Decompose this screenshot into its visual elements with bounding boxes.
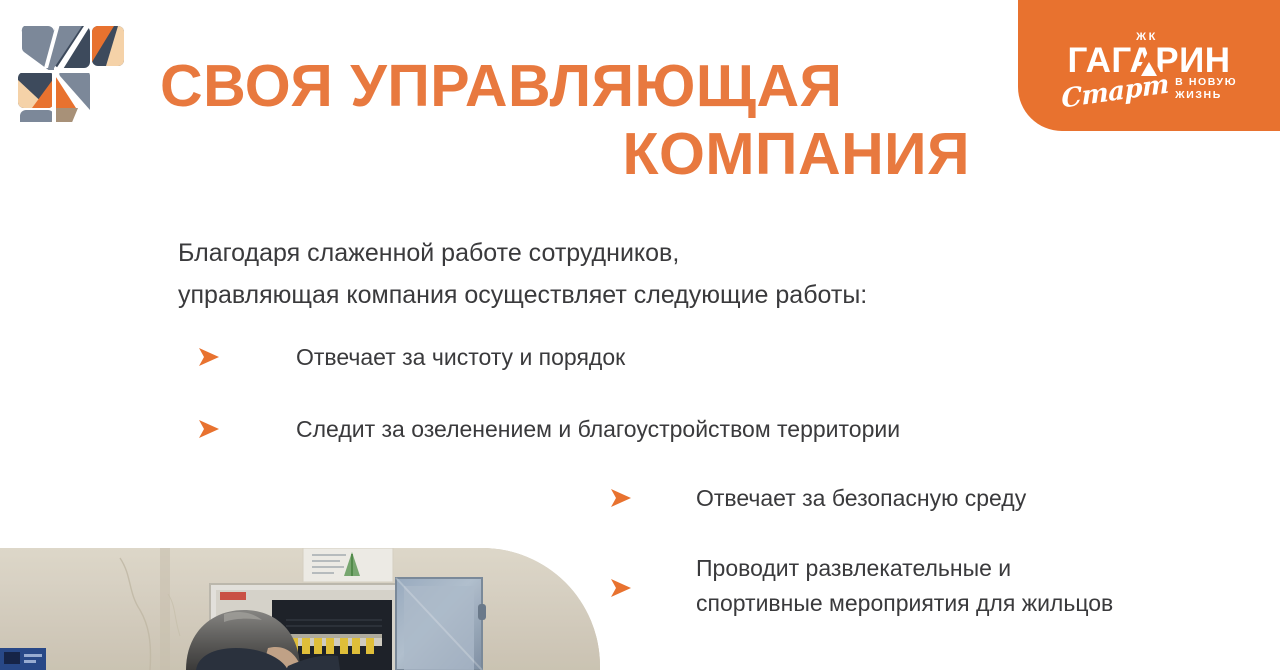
page-title: СВОЯ УПРАВЛЯЮЩАЯ КОМПАНИЯ	[160, 52, 970, 189]
list-item: Проводит развлекательные и спортивные ме…	[608, 551, 1113, 620]
slide-root: ЖК ГАГАРИН Старт В НОВУЮ ЖИЗНЬ СВОЯ УПРА…	[0, 0, 1280, 670]
list-item-label: Проводит развлекательные и спортивные ме…	[696, 551, 1113, 620]
arrow-bullet-icon	[196, 346, 222, 368]
list-item-label: Отвечает за безопасную среду	[696, 481, 1026, 516]
list-item-label: Следит за озеленением и благоустройством…	[296, 412, 900, 447]
intro-paragraph: Благодаря слаженной работе сотрудников, …	[178, 232, 1098, 316]
list-item: Следит за озеленением и благоустройством…	[196, 412, 900, 447]
intro-line1: Благодаря слаженной работе сотрудников,	[178, 232, 1098, 274]
technician-electrical-panel-photo	[0, 548, 600, 670]
arrow-bullet-icon	[608, 577, 634, 599]
badge-tagline: В НОВУЮ ЖИЗНЬ	[1175, 76, 1237, 105]
intro-line2: управляющая компания осуществляет следую…	[178, 274, 1098, 316]
brand-logo-mark	[14, 12, 132, 122]
list-item: Отвечает за чистоту и порядок	[196, 340, 625, 375]
list-item: Отвечает за безопасную среду	[608, 481, 1026, 516]
badge-tagline-line2: ЖИЗНЬ	[1175, 89, 1222, 101]
arrow-bullet-icon	[196, 418, 222, 440]
list-item-label: Отвечает за чистоту и порядок	[296, 340, 625, 375]
page-title-line2: КОМПАНИЯ	[160, 120, 970, 188]
page-title-line1: СВОЯ УПРАВЛЯЮЩАЯ	[160, 52, 970, 120]
arrow-bullet-icon	[608, 487, 634, 509]
gagarin-badge: ЖК ГАГАРИН Старт В НОВУЮ ЖИЗНЬ	[1018, 0, 1280, 131]
